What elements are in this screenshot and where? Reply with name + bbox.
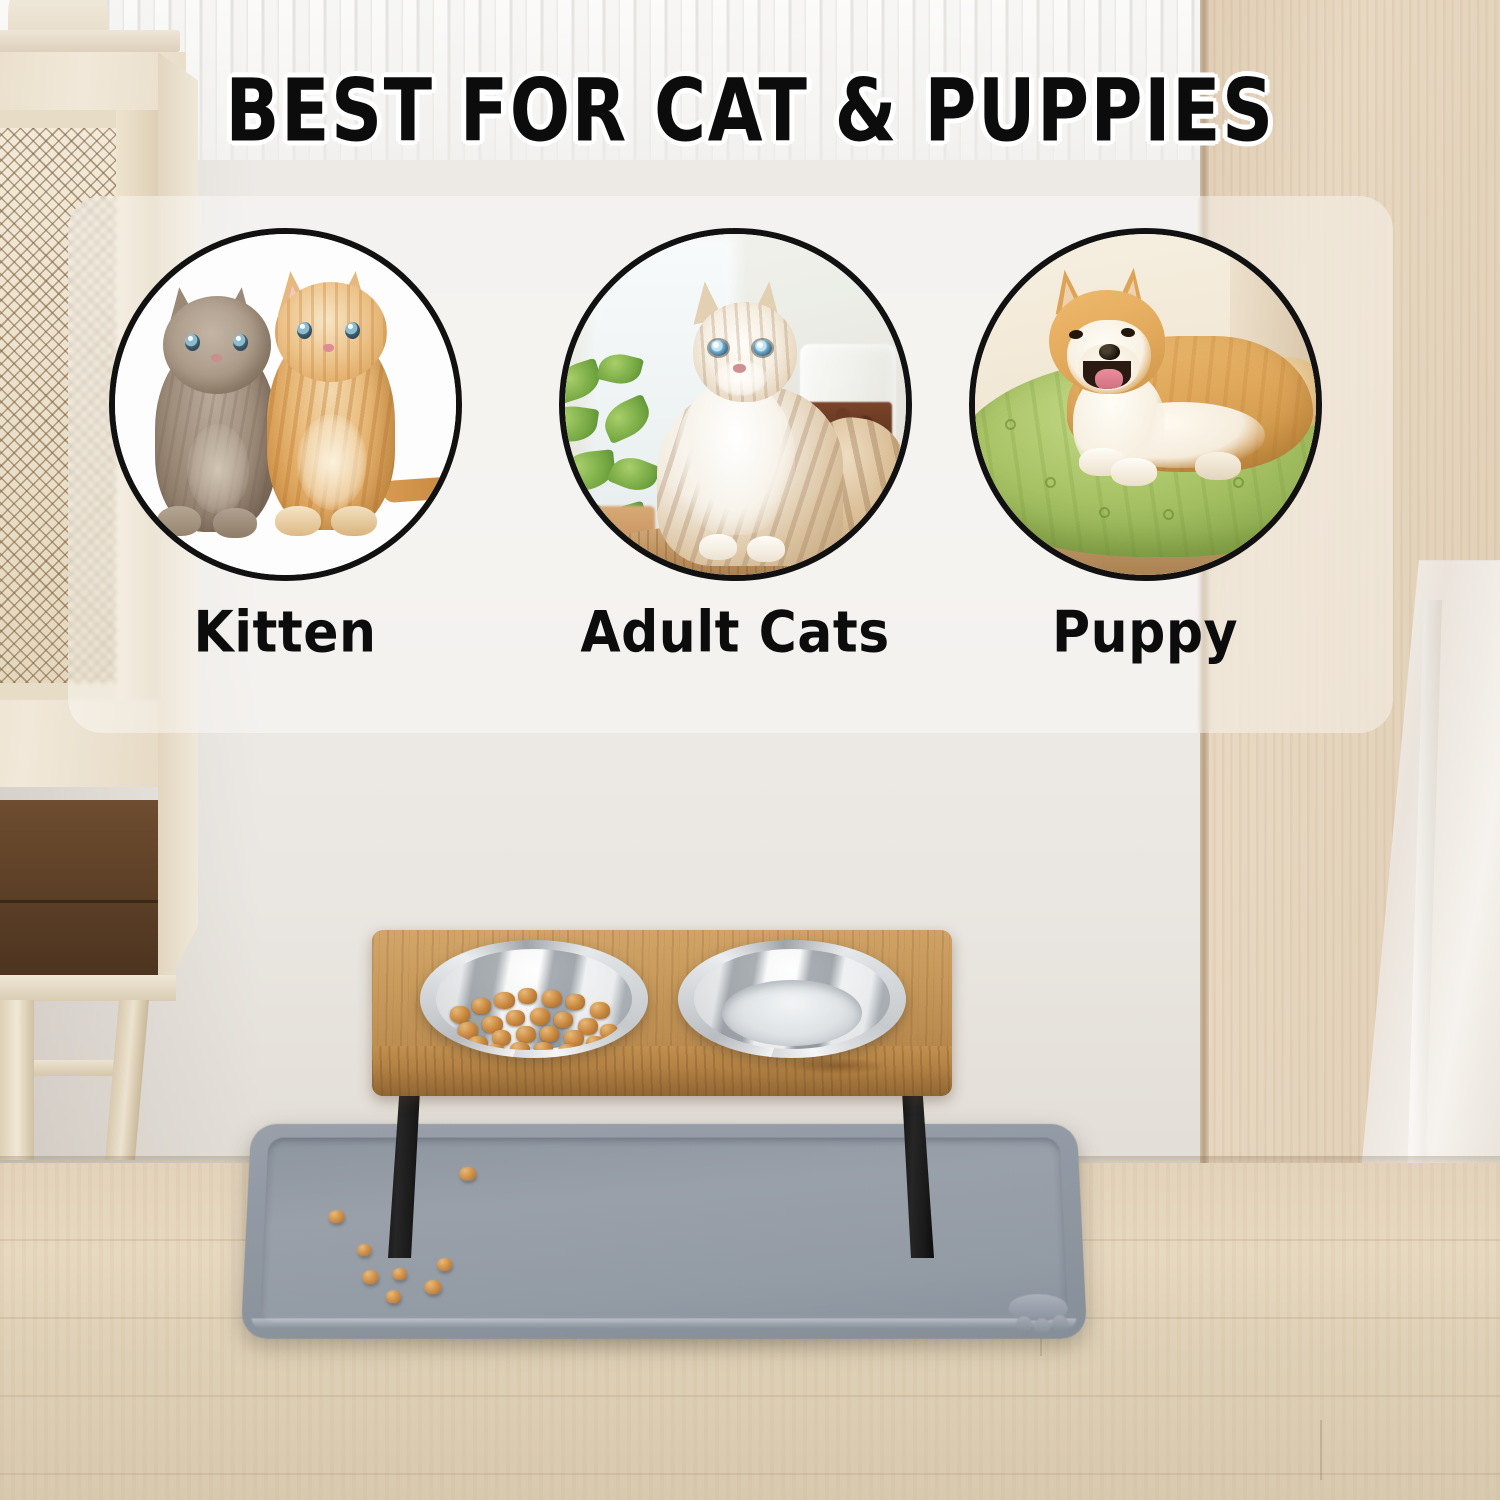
puppy-photo-circle bbox=[969, 228, 1322, 581]
dog-open-mouth bbox=[1083, 361, 1131, 389]
orange-kitten-eye-right bbox=[345, 322, 360, 339]
pet-label-adult-cats: Adult Cats bbox=[545, 600, 925, 666]
food-bowl-left bbox=[420, 940, 648, 1058]
grey-kitten-paw-left bbox=[157, 506, 201, 536]
mat-front-rim-highlight bbox=[251, 1318, 1076, 1328]
spilled-kibble bbox=[386, 1290, 402, 1303]
spilled-kibble bbox=[362, 1270, 379, 1284]
cabinet-shelf bbox=[0, 975, 176, 1001]
cabinet-dark-drawer bbox=[0, 800, 158, 975]
fluffy-adult-cat bbox=[649, 268, 849, 558]
kitten-photo-circle bbox=[109, 228, 462, 581]
paw-toe-pad bbox=[1016, 1316, 1033, 1332]
dog-paw-front-right bbox=[1111, 458, 1157, 486]
cat-paw-left bbox=[699, 534, 737, 560]
spilled-kibble bbox=[424, 1280, 441, 1294]
grey-kitten-chest bbox=[187, 424, 249, 514]
dog-paw-rear bbox=[1195, 452, 1241, 480]
paw-toe-pad bbox=[1052, 1315, 1069, 1331]
feeder-leg-right bbox=[902, 1090, 934, 1258]
pet-category-adult-cats: Adult Cats bbox=[545, 228, 925, 663]
spilled-kibble bbox=[357, 1244, 371, 1256]
orange-kitten-eye-left bbox=[297, 322, 312, 339]
puppy-scene bbox=[975, 234, 1316, 575]
pet-category-puppy: Puppy bbox=[955, 228, 1335, 663]
cat-paw-right bbox=[747, 536, 785, 562]
paw-toe-pad bbox=[1034, 1318, 1051, 1334]
page-title: BEST FOR CAT & PUPPIES bbox=[0, 60, 1500, 161]
cabinet-top bbox=[0, 30, 180, 52]
pet-label-puppy: Puppy bbox=[955, 600, 1335, 666]
orange-kitten-tail bbox=[382, 475, 462, 503]
adult-cat-scene bbox=[565, 234, 906, 575]
orange-kitten-nose bbox=[323, 344, 334, 352]
wood-grain-knot bbox=[790, 1058, 886, 1074]
orange-kitten-paw-left bbox=[275, 506, 321, 536]
water-bowl-right bbox=[678, 940, 906, 1058]
grey-kitten-eye-left bbox=[185, 334, 200, 351]
kitten-scene bbox=[115, 234, 456, 575]
spilled-kibble bbox=[392, 1268, 406, 1280]
cabinet-leg-left bbox=[0, 1000, 34, 1160]
shiba-inu-dog bbox=[1013, 262, 1313, 492]
orange-kitten-paw-right bbox=[331, 506, 377, 536]
orange-kitten-head bbox=[275, 282, 387, 382]
cat-eye-left bbox=[709, 340, 728, 356]
product-lifestyle-image: BEST FOR CAT & PUPPIES bbox=[0, 0, 1500, 1500]
pet-label-kitten: Kitten bbox=[95, 600, 475, 666]
cat-eye-right bbox=[753, 340, 772, 356]
dog-nose bbox=[1099, 344, 1120, 360]
cat-nose bbox=[733, 364, 746, 373]
adult-cat-photo-circle bbox=[559, 228, 912, 581]
cat-chest-ruff bbox=[675, 380, 795, 535]
grey-kitten-nose bbox=[211, 354, 222, 362]
dry-kibble-food bbox=[446, 984, 622, 1050]
bowl-base-empty bbox=[722, 980, 862, 1046]
dog-tongue bbox=[1095, 369, 1123, 389]
orange-kitten-chest bbox=[297, 414, 367, 510]
spilled-kibble bbox=[328, 1210, 344, 1223]
pet-category-kitten: Kitten bbox=[95, 228, 475, 663]
floor-seam bbox=[1320, 1420, 1322, 1480]
elevated-wooden-pet-feeder bbox=[372, 930, 952, 1260]
feeder-leg-left bbox=[388, 1090, 420, 1258]
grey-kitten-eye-right bbox=[233, 334, 248, 351]
grey-kitten-paw-right bbox=[213, 508, 257, 538]
paw-print-corner-icon bbox=[1000, 1290, 1077, 1335]
drawer-seam bbox=[0, 900, 158, 903]
